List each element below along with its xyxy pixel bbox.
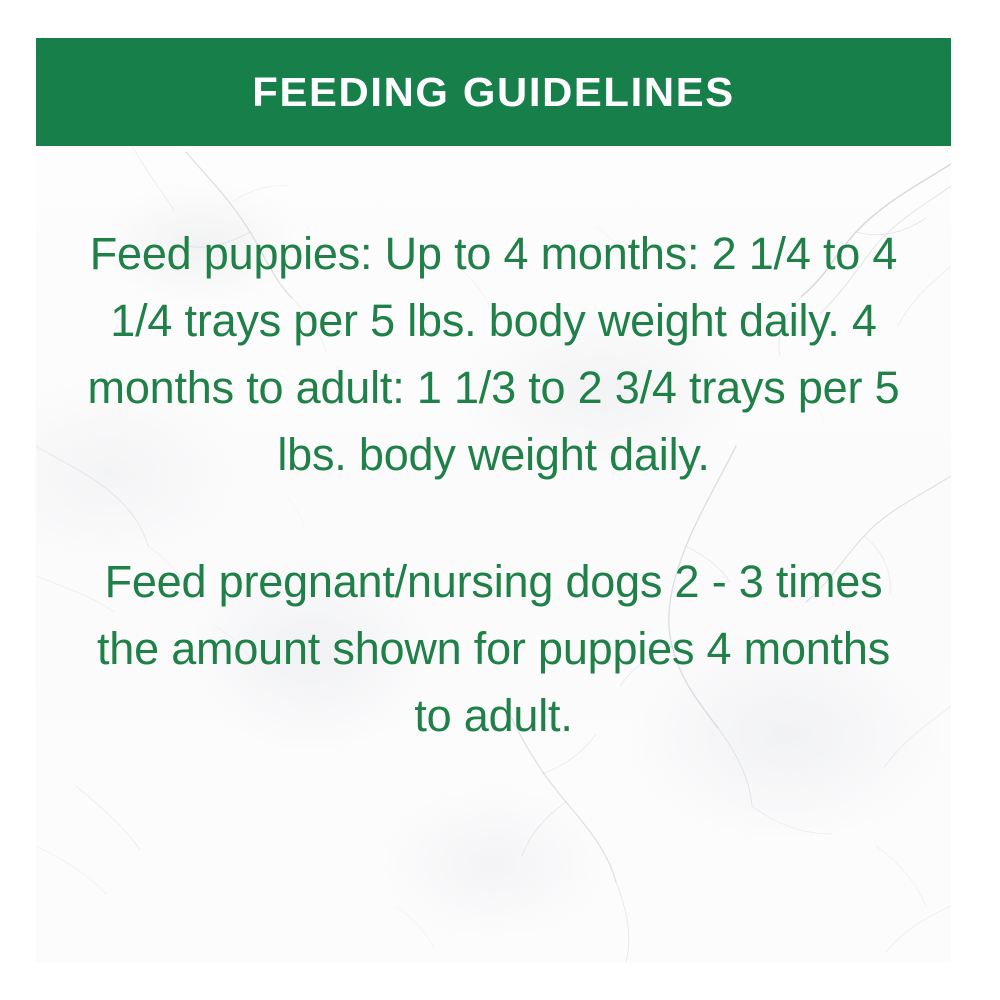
marble-content-card: Feed puppies: Up to 4 months: 2 1/4 to 4… bbox=[36, 146, 951, 962]
feeding-paragraph-puppies: Feed puppies: Up to 4 months: 2 1/4 to 4… bbox=[79, 220, 909, 488]
feeding-guidelines-header-banner: FEEDING GUIDELINES bbox=[36, 38, 951, 146]
feeding-paragraph-pregnant-nursing: Feed pregnant/nursing dogs 2 - 3 times t… bbox=[79, 548, 909, 749]
page-title: FEEDING GUIDELINES bbox=[252, 72, 734, 113]
feeding-instructions-body: Feed puppies: Up to 4 months: 2 1/4 to 4… bbox=[36, 146, 951, 962]
feeding-guidelines-panel: FEEDING GUIDELINES bbox=[0, 0, 1000, 1000]
